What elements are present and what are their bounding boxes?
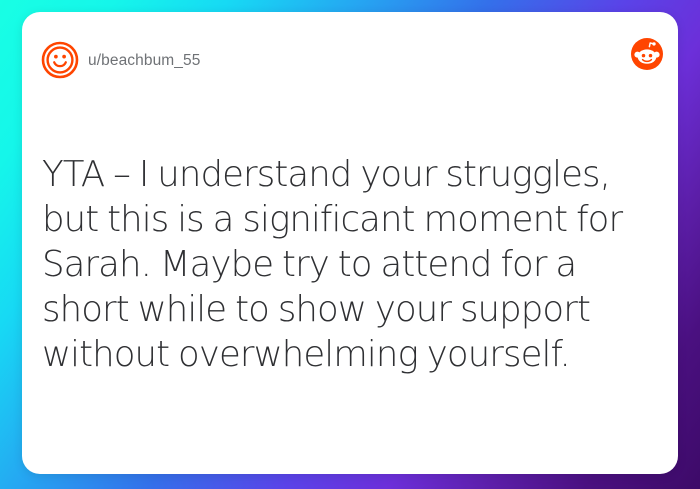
post-text: YTA – I understand your struggles, but t… [42, 152, 664, 377]
card-body: YTA – I understand your struggles, but t… [42, 152, 664, 377]
screenshot-stage: u/beachbum_55 [0, 0, 700, 489]
reddit-comment-card: u/beachbum_55 [22, 12, 678, 474]
username-label: u/beachbum_55 [88, 52, 200, 70]
card-header: u/beachbum_55 [22, 12, 678, 108]
reddit-snoo-icon [631, 38, 663, 70]
smiley-face-icon [40, 40, 80, 80]
